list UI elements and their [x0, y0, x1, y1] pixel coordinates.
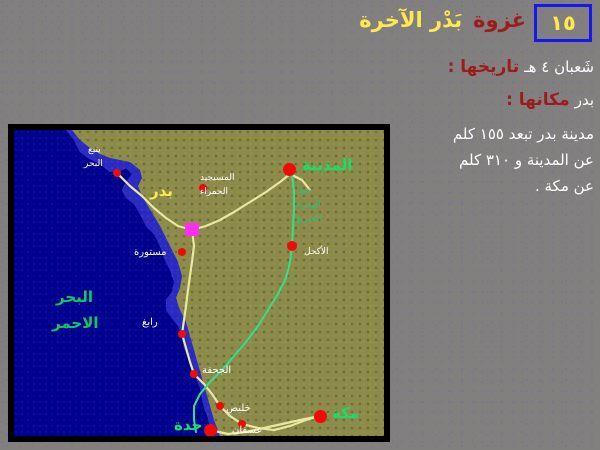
date-row: شَعبان ٤ هـ تاريخها :: [376, 54, 594, 80]
road-jeddah-makkah: [210, 416, 320, 434]
city-marker-mastura[interactable]: [178, 248, 186, 256]
map-vector-layer: [14, 130, 384, 436]
city-marker-makkah[interactable]: [314, 410, 327, 423]
city-marker-khulays[interactable]: [216, 402, 224, 410]
city-marker-akhal[interactable]: [287, 241, 297, 251]
label-jeddah: جدة: [174, 418, 202, 433]
label-khulays: خليص: [226, 404, 251, 414]
label-red-sea-line1: البحر: [56, 290, 93, 305]
description-line-1: مدينة بدر تبعد ١٥٥ كلم: [376, 121, 594, 147]
label-mastura: مستورة: [134, 248, 167, 258]
description-line-3: عن مكة .: [376, 173, 594, 199]
info-panel: شَعبان ٤ هـ تاريخها : بدر مكانها : مدينة…: [376, 54, 594, 199]
slide-header: ١٥ غزوة بَدْر الآخرة: [0, 0, 600, 48]
description-paragraph: مدينة بدر تبعد ١٥٥ كلم عن المدينة و ٣١٠ …: [376, 121, 594, 200]
label-badr: بدر: [150, 184, 173, 199]
title-word-badr: بَدْر الآخرة: [359, 8, 462, 32]
label-yanbu-line1: ينبع: [88, 146, 101, 155]
city-marker-rabigh[interactable]: [178, 330, 186, 338]
city-marker-yanbu[interactable]: [113, 169, 121, 177]
route-madinah-akhal: [292, 174, 294, 246]
title-word-ghazwa: غزوة: [473, 8, 526, 32]
city-marker-jeddah[interactable]: [204, 424, 217, 436]
label-rabigh: رابغ: [142, 318, 158, 328]
label-masjid-hamra-line1: المسيجيد: [200, 174, 234, 183]
label-akhal: الأكحل: [304, 248, 329, 257]
label-hijrah-route-line2: الهجرة: [296, 200, 321, 211]
place-row: بدر مكانها :: [376, 87, 594, 113]
map-canvas: ينبع البحر بدر المسيجيد الحمراء المدينة …: [14, 130, 384, 436]
label-yanbu-line2: البحر: [84, 160, 103, 169]
label-madinah: المدينة: [302, 158, 352, 173]
label-red-sea-line2: الاحمر: [52, 316, 99, 331]
label-masjid-hamra-line2: الحمراء: [200, 188, 228, 197]
label-hijrah-route-line3: السريع: [296, 214, 322, 225]
slide-number-text: ١٥: [550, 13, 576, 34]
hijrah-fast-route: [194, 174, 294, 432]
road-badr-south: [182, 230, 194, 334]
description-line-2: عن المدينة و ٣١٠ كلم: [376, 147, 594, 173]
city-marker-juhfah[interactable]: [190, 370, 198, 378]
label-hijrah-route-line1: خط: [298, 186, 312, 197]
label-juhfah: الجحفة: [202, 366, 231, 376]
label-makkah: مكة: [332, 406, 359, 421]
place-value: بدر: [575, 91, 594, 109]
page-title: غزوة بَدْر الآخرة: [359, 8, 526, 32]
city-marker-madinah[interactable]: [283, 163, 296, 176]
label-usfan: عسفان: [232, 426, 262, 436]
city-marker-badr[interactable]: [185, 223, 199, 236]
date-label: تاريخها :: [448, 57, 520, 77]
place-label: مكانها :: [506, 90, 570, 110]
map-frame: ينبع البحر بدر المسيجيد الحمراء المدينة …: [8, 124, 390, 442]
slide-number-badge: ١٥: [534, 4, 592, 42]
red-sea-water: [14, 130, 212, 436]
date-value: شَعبان ٤ هـ: [524, 58, 594, 76]
